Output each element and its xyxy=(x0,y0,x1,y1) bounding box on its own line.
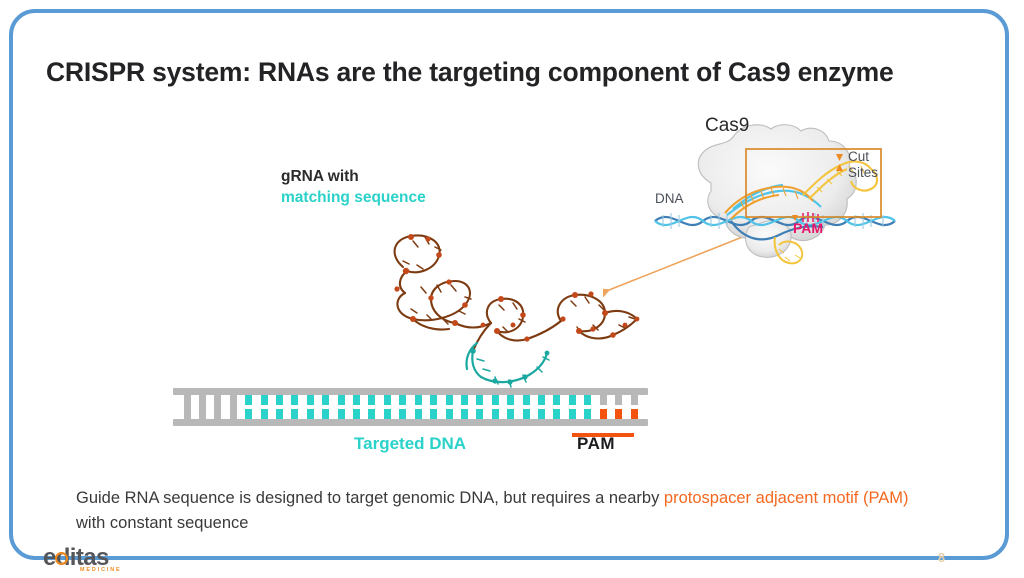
ladder-rung-match xyxy=(291,395,298,419)
rung-half-bottom xyxy=(584,409,591,419)
caption-highlight-pam: adjacent motif (PAM) xyxy=(756,489,909,507)
ladder-rung-spacer xyxy=(199,395,206,419)
pam-inset-label: PAM xyxy=(793,220,823,236)
rung-half-top xyxy=(199,395,206,419)
ladder-rung-spacer xyxy=(184,395,191,419)
ladder-rung-match xyxy=(430,395,437,419)
rung-half-bottom xyxy=(353,409,360,419)
rung-half-top xyxy=(476,395,483,405)
ladder-rung-match xyxy=(584,395,591,419)
logo-accent-ring xyxy=(55,552,68,565)
rung-half-bottom xyxy=(245,409,252,419)
ladder-rung-match xyxy=(538,395,545,419)
rung-half-top xyxy=(184,395,191,419)
ladder-rung-match xyxy=(338,395,345,419)
rung-half-top xyxy=(415,395,422,405)
ladder-rail-bottom xyxy=(173,419,648,426)
ladder-rung-match xyxy=(569,395,576,419)
rung-half-top xyxy=(631,395,638,405)
rung-half-bottom xyxy=(507,409,514,419)
ladder-rung-match xyxy=(461,395,468,419)
ladder-rung-match xyxy=(476,395,483,419)
rung-half-top xyxy=(353,395,360,405)
rung-half-bottom xyxy=(631,409,638,419)
ladder-rungs xyxy=(173,395,648,419)
rung-half-top xyxy=(307,395,314,405)
rung-half-top xyxy=(553,395,560,405)
ladder-rung-match xyxy=(415,395,422,419)
grna-label: gRNA with matching sequence xyxy=(281,166,426,208)
rung-half-top xyxy=(461,395,468,405)
editas-logo: editas MEDICINE xyxy=(43,544,153,578)
rung-half-top xyxy=(245,395,252,405)
rung-half-top xyxy=(291,395,298,405)
rung-half-bottom xyxy=(276,409,283,419)
ladder-rung-pam xyxy=(615,395,622,419)
caption-part1: Guide RNA sequence is designed to target… xyxy=(76,489,664,507)
rung-half-bottom xyxy=(307,409,314,419)
rung-half-bottom xyxy=(261,409,268,419)
rung-half-bottom xyxy=(569,409,576,419)
cut-sites-label-line1: Cut xyxy=(848,149,869,164)
page-title: CRISPR system: RNAs are the targeting co… xyxy=(46,57,986,88)
rung-half-top xyxy=(538,395,545,405)
rung-half-top xyxy=(276,395,283,405)
grna-label-line1: gRNA with xyxy=(281,166,426,187)
ladder-rung-match xyxy=(368,395,375,419)
rung-half-bottom xyxy=(523,409,530,419)
slide-frame: CRISPR system: RNAs are the targeting co… xyxy=(9,9,1009,560)
ladder-rung-match xyxy=(492,395,499,419)
rung-half-bottom xyxy=(461,409,468,419)
rung-half-bottom xyxy=(430,409,437,419)
rung-half-top xyxy=(523,395,530,405)
pam-label: PAM xyxy=(577,434,615,454)
logo-subtitle: MEDICINE xyxy=(80,567,122,573)
rung-half-top xyxy=(430,395,437,405)
ladder-rung-match xyxy=(307,395,314,419)
rung-half-top xyxy=(446,395,453,405)
rung-half-top xyxy=(230,395,237,419)
ladder-rung-spacer xyxy=(230,395,237,419)
rung-half-bottom xyxy=(446,409,453,419)
ladder-rung-match xyxy=(523,395,530,419)
rung-half-top xyxy=(322,395,329,405)
rung-half-bottom xyxy=(291,409,298,419)
ladder-rung-match xyxy=(322,395,329,419)
rung-half-top xyxy=(261,395,268,405)
grna-label-line2: matching sequence xyxy=(281,187,426,208)
rung-half-top xyxy=(507,395,514,405)
rung-half-top xyxy=(492,395,499,405)
rung-half-bottom xyxy=(399,409,406,419)
ladder-rung-match xyxy=(553,395,560,419)
rung-half-bottom xyxy=(538,409,545,419)
ladder-rung-match xyxy=(399,395,406,419)
rung-half-bottom xyxy=(415,409,422,419)
ladder-rung-match xyxy=(446,395,453,419)
caption-part3: with constant sequence xyxy=(76,514,248,532)
rung-half-top xyxy=(569,395,576,405)
ladder-rung-match xyxy=(276,395,283,419)
ladder-rung-match xyxy=(384,395,391,419)
rung-half-top xyxy=(214,395,221,419)
rung-half-bottom xyxy=(476,409,483,419)
rung-half-bottom xyxy=(322,409,329,419)
dna-duplex-ladder xyxy=(173,388,648,426)
ladder-rung-spacer xyxy=(214,395,221,419)
ladder-rung-pam xyxy=(600,395,607,419)
rung-half-top xyxy=(384,395,391,405)
rung-half-top xyxy=(600,395,607,405)
rung-half-top xyxy=(399,395,406,405)
cas9-inset-illustration: Cas9 DNA Cut Sites PAM xyxy=(653,109,903,274)
page-number: 8 xyxy=(938,551,945,565)
caption-text: Guide RNA sequence is designed to target… xyxy=(76,486,936,536)
rung-half-bottom xyxy=(600,409,607,419)
rung-half-top xyxy=(338,395,345,405)
rung-half-bottom xyxy=(492,409,499,419)
ladder-rail-top xyxy=(173,388,648,395)
rung-half-bottom xyxy=(384,409,391,419)
rung-half-bottom xyxy=(615,409,622,419)
rung-half-top xyxy=(615,395,622,405)
ladder-rung-pam xyxy=(631,395,638,419)
targeted-dna-label: Targeted DNA xyxy=(354,434,466,454)
caption-highlight-protospacer: protospacer xyxy=(664,489,751,507)
rung-half-bottom xyxy=(368,409,375,419)
cut-sites-label-line2: Sites xyxy=(848,165,878,180)
rung-half-top xyxy=(584,395,591,405)
rung-half-bottom xyxy=(338,409,345,419)
ladder-rung-match xyxy=(261,395,268,419)
cas9-inset-label: Cas9 xyxy=(705,115,749,136)
ladder-rung-match xyxy=(245,395,252,419)
rung-half-bottom xyxy=(553,409,560,419)
ladder-rung-match xyxy=(353,395,360,419)
rung-half-top xyxy=(368,395,375,405)
dna-inset-label: DNA xyxy=(655,191,684,206)
ladder-rung-match xyxy=(507,395,514,419)
